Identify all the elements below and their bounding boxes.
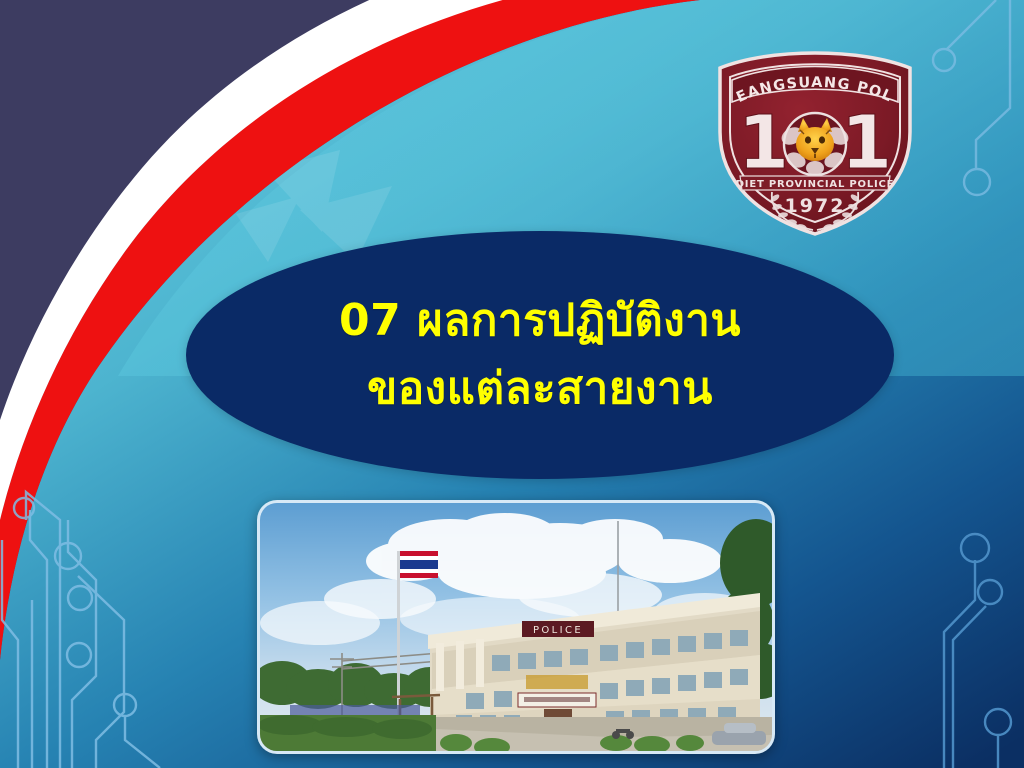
photo-colonnade	[436, 639, 484, 691]
title-line-1: 07 ผลการปฏิบัติงาน	[339, 287, 741, 355]
presentation-slide: MUEANGSUANG POLICE 101	[0, 0, 1024, 768]
police-badge-svg: MUEANGSUANG POLICE 101	[700, 40, 930, 240]
thai-flag-icon	[400, 551, 438, 578]
police-station-photo: POLICE	[257, 500, 775, 754]
badge-mid-text: DIET PROVINCIAL POLICE	[736, 179, 895, 190]
title-ellipse: 07 ผลการปฏิบัติงาน ของแต่ละสายงาน	[186, 231, 894, 479]
badge-year: 1972	[785, 195, 846, 217]
police-station-photo-svg: POLICE	[260, 503, 772, 751]
svg-text:POLICE: POLICE	[533, 625, 583, 636]
photo-police-sign: POLICE	[522, 621, 594, 637]
photo-facade-letters	[526, 675, 588, 689]
title-line-2: ของแต่ละสายงาน	[367, 355, 713, 423]
photo-distant-fence	[290, 705, 420, 715]
police-badge-logo: MUEANGSUANG POLICE 101	[700, 40, 930, 240]
photo-entry-banner	[518, 693, 596, 707]
